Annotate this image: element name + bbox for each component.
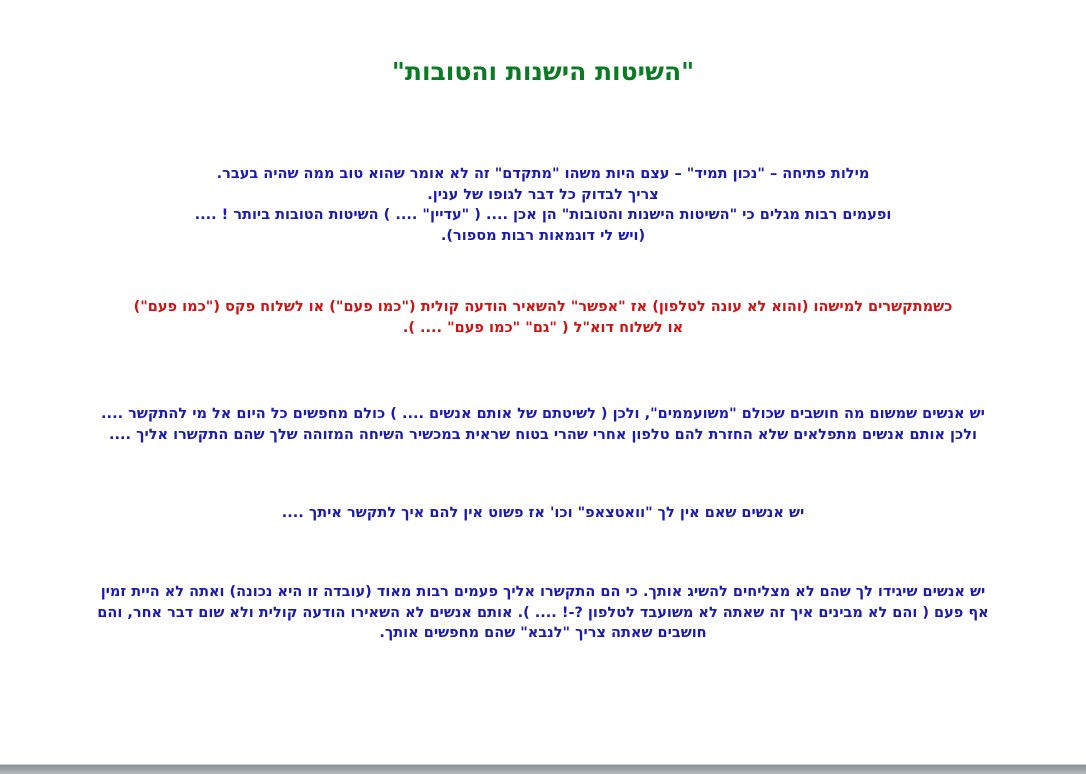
paragraph-line: או לשלוח דוא"ל ( "גם" "כמו פעם" .... ).: [0, 318, 1086, 339]
paragraph-line: (ויש לי דוגמאות רבות מספור).: [0, 226, 1086, 247]
paragraph-line: יש אנשים שיגידו לך שהם לא מצליחים להשיג …: [0, 582, 1086, 603]
paragraph-intro: מילות פתיחה – "נכון תמיד" – עצם היות משה…: [0, 164, 1086, 246]
paragraph-line: חושבים שאתה צריך "לנבא" שהם מחפשים אותך.: [0, 623, 1086, 644]
paragraph-line: ופעמים רבות מגלים כי "השיטות הישנות והטו…: [0, 205, 1086, 226]
paragraph-line: ולכן אותם אנשים מתפלאים שלא החזרת להם טל…: [0, 425, 1086, 446]
paragraph-line: אף פעם ( והם לא מבינים איך זה שאתה לא מש…: [0, 603, 1086, 624]
paragraph-line: יש אנשים שאם אין לך "וואטצאפ" וכו' אז פש…: [0, 503, 1086, 524]
bottom-status-bar: [0, 765, 1086, 774]
document-page: "השיטות הישנות והטובות" מילות פתיחה – "נ…: [0, 0, 1086, 774]
page-title: "השיטות הישנות והטובות": [0, 56, 1086, 88]
paragraph-line: צריך לבדוק כל דבר לגופו של ענין.: [0, 185, 1086, 206]
paragraph-line: כשמתקשרים למישהו (והוא לא עונה לטלפון) א…: [0, 297, 1086, 318]
paragraph-boring-people: יש אנשים שמשום מה חושבים שכולם "משועממים…: [0, 404, 1086, 445]
paragraph-whatsapp: יש אנשים שאם אין לך "וואטצאפ" וכו' אז פש…: [0, 503, 1086, 524]
paragraph-unreachable: יש אנשים שיגידו לך שהם לא מצליחים להשיג …: [0, 582, 1086, 644]
paragraph-line: יש אנשים שמשום מה חושבים שכולם "משועממים…: [0, 404, 1086, 425]
paragraph-line: מילות פתיחה – "נכון תמיד" – עצם היות משה…: [0, 164, 1086, 185]
paragraph-contact-methods: כשמתקשרים למישהו (והוא לא עונה לטלפון) א…: [0, 297, 1086, 338]
